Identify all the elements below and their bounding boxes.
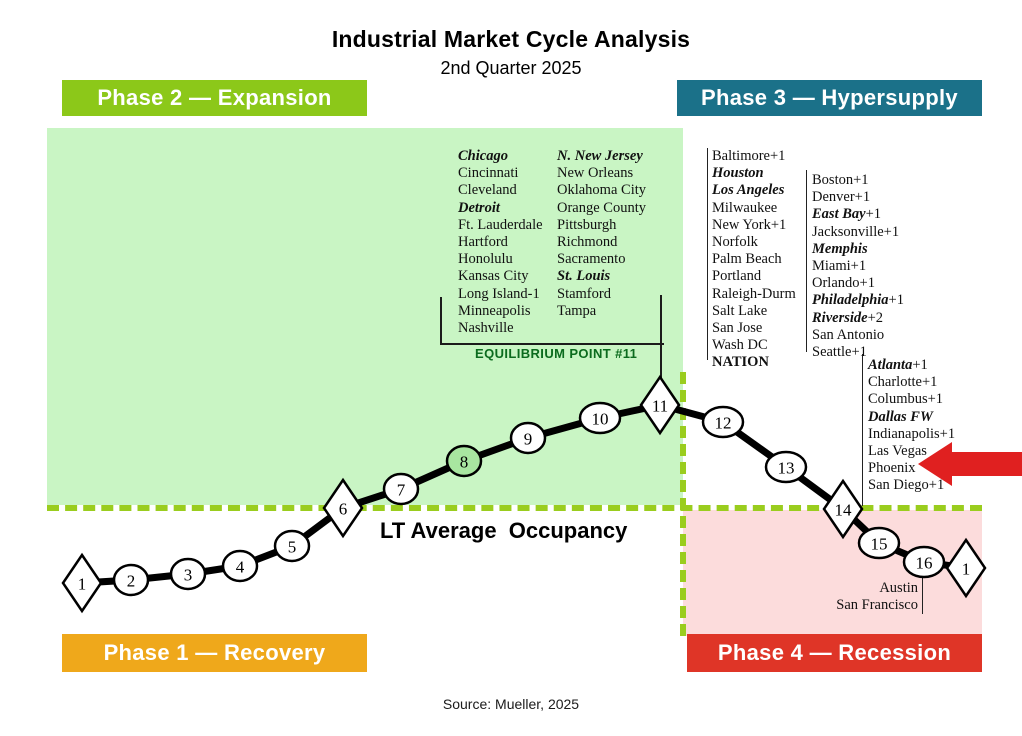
market-list-item: Chicago bbox=[458, 148, 543, 165]
market-list-item: Palm Beach bbox=[712, 251, 796, 268]
market-list-item: Orlando+1 bbox=[812, 275, 904, 292]
market-list-item: Phoenix bbox=[868, 460, 955, 477]
cycle-point-shape bbox=[114, 565, 148, 595]
lt-average-occupancy-axis bbox=[47, 505, 982, 511]
cycle-point-1: 1 bbox=[63, 555, 101, 611]
cycle-point-label: 13 bbox=[778, 459, 795, 478]
cycle-point-label: 3 bbox=[184, 566, 193, 585]
market-list-item: Sacramento bbox=[557, 251, 646, 268]
market-list-item: Riverside+2 bbox=[812, 310, 904, 327]
market-list-item: San Jose bbox=[712, 320, 796, 337]
lt-average-occupancy-label: LT Average Occupancy bbox=[380, 518, 627, 544]
cycle-point-12: 12 bbox=[703, 407, 743, 437]
cycle-point-3: 3 bbox=[171, 559, 205, 589]
market-list-item: San Diego+1 bbox=[868, 477, 955, 494]
market-list-item: Austin bbox=[828, 580, 918, 597]
list-divider-rule bbox=[707, 148, 708, 360]
page-subtitle: 2nd Quarter 2025 bbox=[0, 58, 1022, 79]
market-list-item: Las Vegas bbox=[868, 443, 955, 460]
market-list-item: San Antonio bbox=[812, 327, 904, 344]
phase-banner-hypersupply: Phase 3 — Hypersupply bbox=[677, 80, 982, 116]
market-list-item: Indianapolis+1 bbox=[868, 426, 955, 443]
market-list-item: N. New Jersey bbox=[557, 148, 646, 165]
cycle-point-label: 1 bbox=[78, 575, 87, 594]
market-list-item: Ft. Lauderdale bbox=[458, 217, 543, 234]
market-list-item: Los Angeles bbox=[712, 182, 796, 199]
market-list-item: Minneapolis bbox=[458, 303, 543, 320]
market-list-item: Miami+1 bbox=[812, 258, 904, 275]
cycle-point-5: 5 bbox=[275, 531, 309, 561]
market-list-item: Charlotte+1 bbox=[868, 374, 955, 391]
equilibrium-bracket-stem bbox=[660, 295, 662, 380]
cycle-point-2: 2 bbox=[114, 565, 148, 595]
market-list-expansion-col2: N. New JerseyNew OrleansOklahoma CityOra… bbox=[557, 148, 646, 320]
market-list-recession: AustinSan Francisco bbox=[828, 580, 918, 614]
market-list-item: Baltimore+1 bbox=[712, 148, 796, 165]
market-list-item: New Orleans bbox=[557, 165, 646, 182]
cycle-point-4: 4 bbox=[223, 551, 257, 581]
market-list-item: Kansas City bbox=[458, 268, 543, 285]
market-list-hypersupply-col2: Boston+1Denver+1East Bay+1Jacksonville+1… bbox=[812, 172, 904, 361]
market-list-hypersupply-col3: Atlanta+1Charlotte+1Columbus+1Dallas FWI… bbox=[868, 357, 955, 495]
market-list-item: Raleigh-Durm bbox=[712, 286, 796, 303]
equilibrium-point-label: EQUILIBRIUM POINT #11 bbox=[475, 346, 637, 361]
market-list-item: Richmond bbox=[557, 234, 646, 251]
phase-banner-recession: Phase 4 — Recession bbox=[687, 634, 982, 672]
cycle-point-shape bbox=[63, 555, 101, 611]
cycle-point-shape bbox=[223, 551, 257, 581]
market-list-item: Salt Lake bbox=[712, 303, 796, 320]
market-list-item: Portland bbox=[712, 268, 796, 285]
list-divider-rule bbox=[862, 354, 863, 506]
phase-banner-expansion: Phase 2 — Expansion bbox=[62, 80, 367, 116]
cycle-point-shape bbox=[703, 407, 743, 437]
market-list-item: St. Louis bbox=[557, 268, 646, 285]
market-list-item: Cincinnati bbox=[458, 165, 543, 182]
market-list-item: Cleveland bbox=[458, 182, 543, 199]
cycle-point-shape bbox=[766, 452, 806, 482]
market-list-item: Pittsburgh bbox=[557, 217, 646, 234]
market-list-item: Milwaukee bbox=[712, 200, 796, 217]
cycle-chart-canvas: LT Average Occupancy Industrial Market C… bbox=[0, 0, 1022, 736]
page-title: Industrial Market Cycle Analysis bbox=[0, 26, 1022, 53]
cycle-point-shape bbox=[275, 531, 309, 561]
market-list-item: East Bay+1 bbox=[812, 206, 904, 223]
market-list-item: San Francisco bbox=[828, 597, 918, 614]
market-list-item: NATION bbox=[712, 354, 796, 371]
market-list-item: Honolulu bbox=[458, 251, 543, 268]
market-list-item: Boston+1 bbox=[812, 172, 904, 189]
market-list-item: Detroit bbox=[458, 200, 543, 217]
market-list-item: Tampa bbox=[557, 303, 646, 320]
market-list-item: Jacksonville+1 bbox=[812, 224, 904, 241]
market-list-item: Philadelphia+1 bbox=[812, 292, 904, 309]
cycle-point-label: 12 bbox=[715, 414, 732, 433]
market-list-item: New York+1 bbox=[712, 217, 796, 234]
market-list-item: Norfolk bbox=[712, 234, 796, 251]
market-list-expansion-col1: ChicagoCincinnatiClevelandDetroitFt. Lau… bbox=[458, 148, 543, 337]
market-list-item: Columbus+1 bbox=[868, 391, 955, 408]
market-list-item: Nashville bbox=[458, 320, 543, 337]
market-list-item: Dallas FW bbox=[868, 409, 955, 426]
list-divider-rule bbox=[922, 552, 923, 614]
market-list-hypersupply-col1: Baltimore+1HoustonLos AngelesMilwaukeeNe… bbox=[712, 148, 796, 372]
market-list-item: Long Island-1 bbox=[458, 286, 543, 303]
market-list-item: Memphis bbox=[812, 241, 904, 258]
cycle-point-label: 2 bbox=[127, 572, 136, 591]
market-list-item: Stamford bbox=[557, 286, 646, 303]
market-list-item: Houston bbox=[712, 165, 796, 182]
market-list-item: Oklahoma City bbox=[557, 182, 646, 199]
list-divider-rule bbox=[806, 170, 807, 352]
recession-quadrant-fill bbox=[683, 510, 982, 636]
market-list-item: Atlanta+1 bbox=[868, 357, 955, 374]
cycle-point-label: 5 bbox=[288, 538, 297, 557]
cycle-point-13: 13 bbox=[766, 452, 806, 482]
cycle-point-shape bbox=[171, 559, 205, 589]
market-list-item: Hartford bbox=[458, 234, 543, 251]
source-note: Source: Mueller, 2025 bbox=[0, 696, 1022, 712]
market-list-item: Wash DC bbox=[712, 337, 796, 354]
cycle-point-label: 4 bbox=[236, 558, 245, 577]
equilibrium-vertical-axis bbox=[680, 372, 686, 636]
market-list-item: Orange County bbox=[557, 200, 646, 217]
market-list-item: Denver+1 bbox=[812, 189, 904, 206]
phase-banner-recovery: Phase 1 — Recovery bbox=[62, 634, 367, 672]
